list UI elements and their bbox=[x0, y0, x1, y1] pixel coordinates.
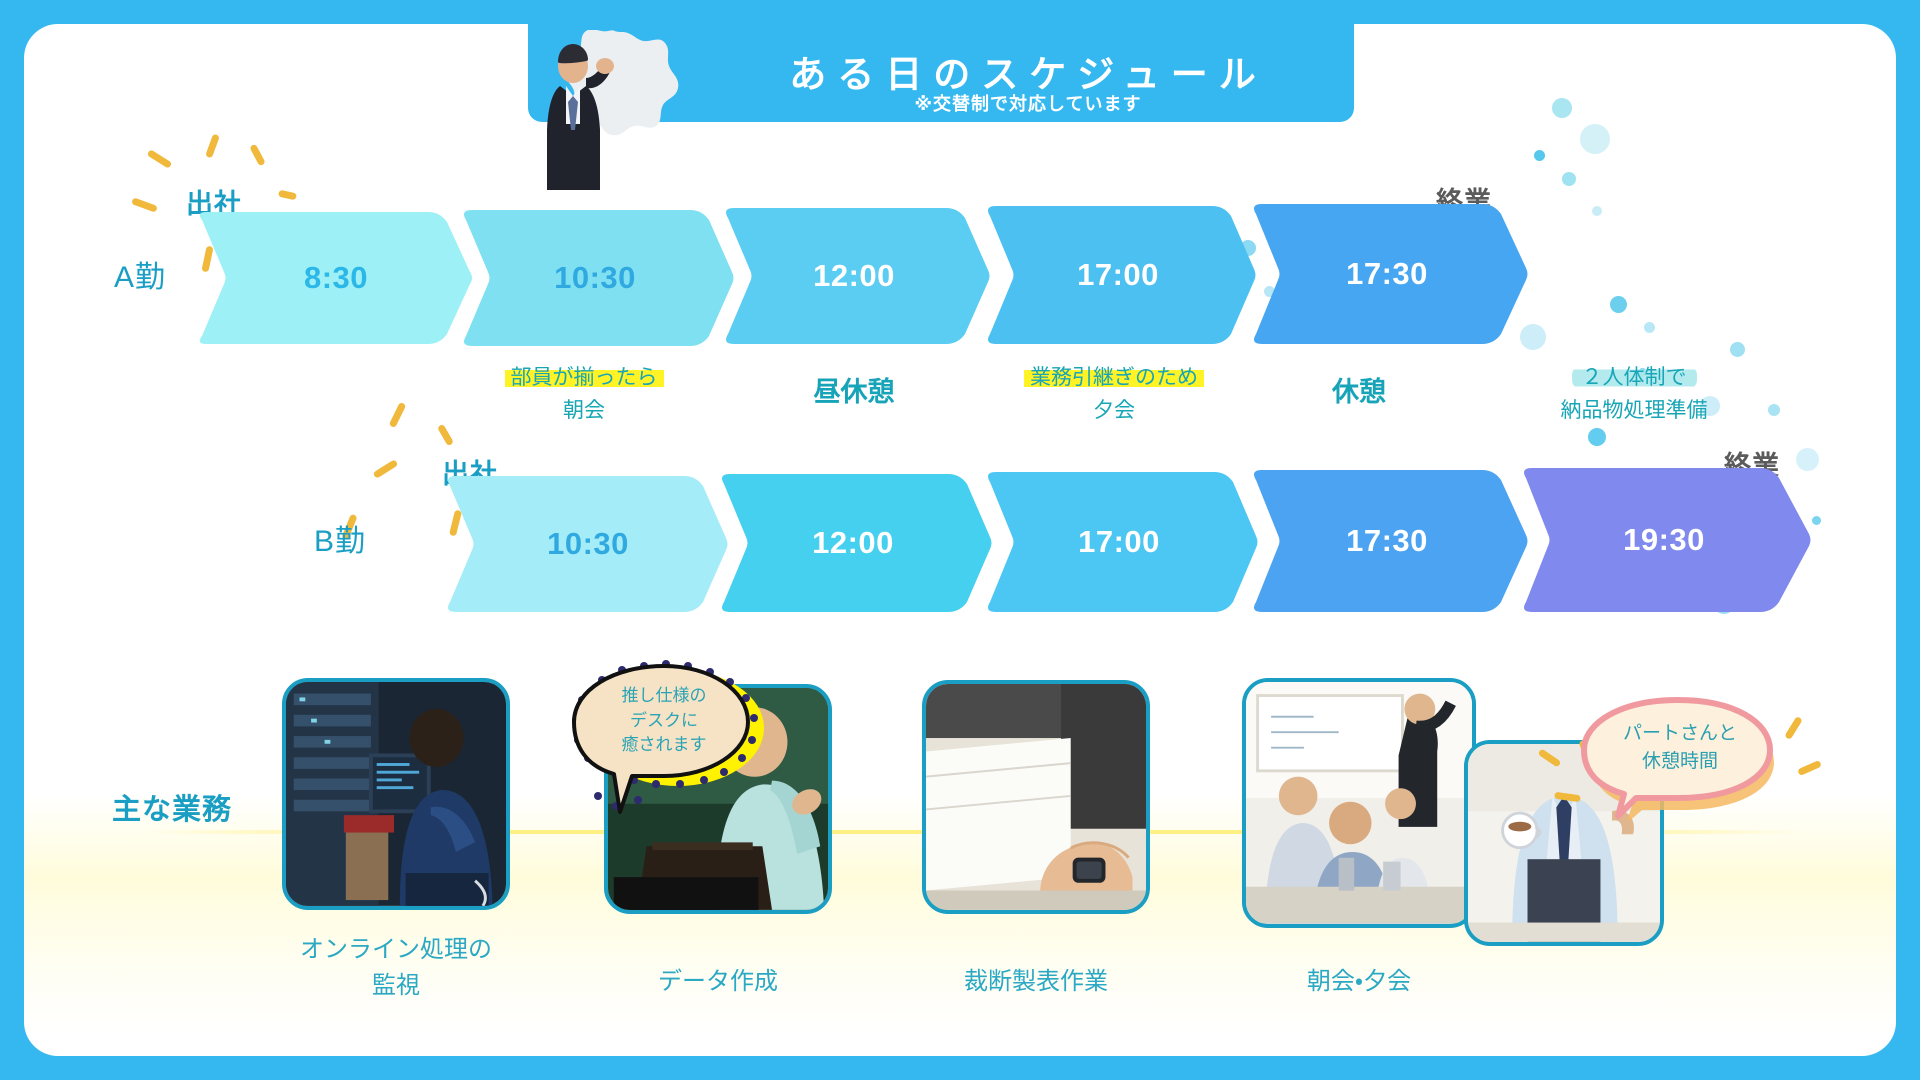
bubble-line-0: 推し仕様の bbox=[576, 684, 752, 709]
bubble-line-0: パートさんと bbox=[1594, 720, 1766, 748]
shift-a-step-0[interactable]: 8:30 bbox=[190, 210, 472, 346]
sparkle bbox=[147, 149, 173, 169]
shift-b-time-2: 17:00 bbox=[1078, 524, 1160, 560]
caption-0-bottom: 朝会 bbox=[434, 395, 734, 428]
shift-a-time-0: 8:30 bbox=[294, 260, 368, 296]
duty-caption-0: オンライン処理の 監視 bbox=[260, 932, 532, 1004]
shift-a-time-4: 17:30 bbox=[1346, 256, 1428, 292]
paper-cutting-hands-photo bbox=[926, 684, 1146, 910]
bubble-dot bbox=[1730, 342, 1745, 357]
bubble-dot bbox=[1812, 516, 1821, 525]
speech-bubble-desk: 推し仕様の デスクに 癒されます bbox=[558, 660, 774, 820]
caption-3: 休憩 bbox=[1239, 372, 1479, 414]
duty-photo-3[interactable] bbox=[1242, 678, 1476, 928]
duty-caption-3-line1: 朝会・夕会 bbox=[1236, 964, 1482, 1000]
shift-b-step-4[interactable]: 19:30 bbox=[1516, 466, 1812, 614]
sparkle bbox=[249, 144, 266, 167]
duty-photo-2[interactable] bbox=[922, 680, 1150, 914]
duties-label: 主な業務 bbox=[112, 786, 232, 828]
duty-caption-1-line1: データ作成 bbox=[600, 964, 836, 1000]
bubble-line-1: 休憩時間 bbox=[1594, 748, 1766, 776]
bubble-dot bbox=[1592, 206, 1602, 216]
sparkle bbox=[437, 424, 454, 447]
page-subtitle: ※交替制で対応しています bbox=[728, 90, 1328, 116]
bubble-line-1: デスクに bbox=[576, 709, 752, 734]
shift-label-a: A勤 bbox=[114, 252, 166, 296]
sparkle bbox=[373, 459, 399, 479]
shift-b-step-0[interactable]: 10:30 bbox=[438, 474, 728, 614]
bubble-dot bbox=[1610, 296, 1627, 313]
businessman-icon bbox=[540, 38, 626, 192]
bubble-dot bbox=[1552, 98, 1572, 118]
shift-label-b: B勤 bbox=[314, 516, 366, 560]
meeting-room-photo bbox=[1246, 682, 1472, 923]
shift-b-step-3[interactable]: 17:30 bbox=[1246, 468, 1528, 614]
sparkle bbox=[1797, 760, 1822, 776]
caption-3-bottom: 休憩 bbox=[1239, 372, 1479, 414]
shift-b-time-4: 19:30 bbox=[1623, 522, 1705, 558]
duty-caption-2-line1: 裁断製表作業 bbox=[918, 964, 1154, 1000]
bubble-dot bbox=[1534, 150, 1545, 161]
caption-0-top: 部員が揃ったら bbox=[505, 366, 664, 389]
bubble-dot bbox=[1562, 172, 1576, 186]
caption-4-top: ２人体制で bbox=[1572, 366, 1697, 389]
caption-2: 業務引継ぎのため 夕会 bbox=[964, 362, 1264, 427]
sparkle bbox=[278, 190, 297, 201]
shift-a-time-3: 17:00 bbox=[1077, 257, 1159, 293]
duty-caption-0-line1: オンライン処理の bbox=[260, 932, 532, 968]
shift-a-step-2[interactable]: 12:00 bbox=[718, 206, 990, 346]
shift-a-time-2: 12:00 bbox=[813, 258, 895, 294]
bubble-line-2: 癒されます bbox=[576, 733, 752, 758]
server-room-worker-photo bbox=[286, 682, 506, 906]
caption-4-bottom: 納品物処理準備 bbox=[1484, 395, 1784, 428]
caption-1: 昼休憩 bbox=[714, 372, 994, 414]
shift-b-time-3: 17:30 bbox=[1346, 523, 1428, 559]
bubble-dot bbox=[1588, 428, 1606, 446]
bubble-dot bbox=[1580, 124, 1610, 154]
sparkle bbox=[389, 402, 407, 428]
shift-b-step-2[interactable]: 17:00 bbox=[980, 470, 1258, 614]
caption-1-bottom: 昼休憩 bbox=[714, 372, 994, 414]
sparkle bbox=[205, 134, 220, 159]
infographic-card: ある日のスケジュール ※交替制で対応しています bbox=[24, 24, 1896, 1056]
shift-a-step-3[interactable]: 17:00 bbox=[980, 204, 1256, 346]
duty-caption-3: 朝会・夕会 bbox=[1236, 964, 1482, 1000]
duty-photo-0[interactable] bbox=[282, 678, 510, 910]
shift-a-time-1: 10:30 bbox=[554, 260, 636, 296]
shift-a-step-4[interactable]: 17:30 bbox=[1246, 202, 1528, 346]
bubble-dot bbox=[1644, 322, 1655, 333]
speech-bubble-break: パートさんと 休憩時間 bbox=[1566, 690, 1782, 820]
sparkle bbox=[1784, 716, 1803, 740]
caption-2-top: 業務引継ぎのため bbox=[1024, 366, 1204, 389]
speech-bubble-desk-text: 推し仕様の デスクに 癒されます bbox=[576, 684, 752, 758]
sparkle bbox=[131, 197, 158, 212]
duty-caption-2: 裁断製表作業 bbox=[918, 964, 1154, 1000]
caption-4: ２人体制で 納品物処理準備 bbox=[1484, 362, 1784, 427]
shift-b-step-1[interactable]: 12:00 bbox=[714, 472, 992, 614]
caption-2-bottom: 夕会 bbox=[964, 395, 1264, 428]
shift-a-step-1[interactable]: 10:30 bbox=[456, 208, 734, 348]
shift-b-time-1: 12:00 bbox=[812, 525, 894, 561]
duty-caption-0-line2: 監視 bbox=[260, 968, 532, 1004]
duty-caption-1: データ作成 bbox=[600, 964, 836, 1000]
shift-b-time-0: 10:30 bbox=[537, 526, 629, 562]
caption-0: 部員が揃ったら 朝会 bbox=[434, 362, 734, 427]
speech-bubble-break-text: パートさんと 休憩時間 bbox=[1594, 720, 1766, 775]
